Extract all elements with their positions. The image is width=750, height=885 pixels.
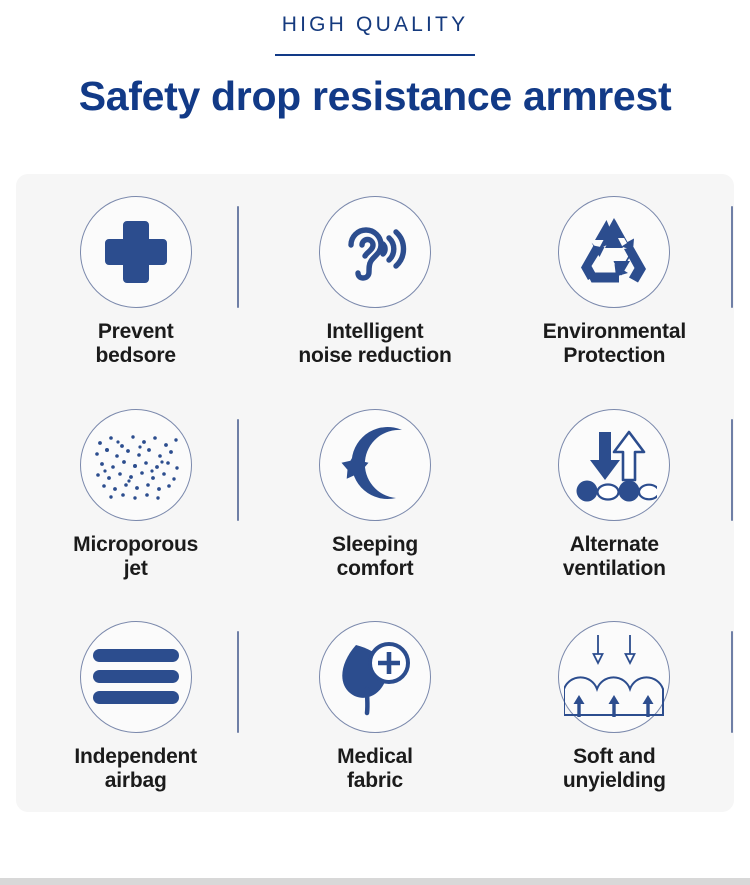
feature-panel: Prevent bedsore	[16, 174, 734, 812]
eyebrow-text: HIGH QUALITY	[0, 14, 750, 35]
feature-cell-microporous-jet[interactable]: Microporous jet	[16, 387, 255, 600]
feature-label: Environmental Protection	[543, 320, 686, 368]
column-divider	[237, 206, 239, 308]
title-underline	[275, 54, 475, 56]
leaf-plus-icon	[334, 637, 416, 717]
column-divider	[237, 419, 239, 521]
feature-cell-environmental-protection[interactable]: Environmental Protection	[495, 174, 734, 387]
three-bars-icon	[93, 647, 179, 707]
product-feature-page: HIGH QUALITY Safety drop resistance armr…	[0, 0, 750, 885]
arches-arrows-icon	[564, 629, 664, 725]
feature-label: Microporous jet	[73, 533, 198, 581]
icon-circle	[319, 409, 431, 521]
feature-label: Medical fabric	[337, 745, 413, 793]
recycle-icon	[574, 214, 654, 290]
moon-star-icon	[334, 424, 416, 506]
feature-label: Independent airbag	[74, 745, 197, 793]
ear-sound-wave-icon	[337, 214, 413, 290]
icon-circle	[319, 196, 431, 308]
icon-circle	[558, 409, 670, 521]
bottom-bar	[0, 878, 750, 885]
icon-circle	[558, 621, 670, 733]
icon-circle	[80, 409, 192, 521]
medical-cross-icon	[97, 213, 175, 291]
feature-cell-alternate-ventilation[interactable]: Alternate ventilation	[495, 387, 734, 600]
feature-label: Intelligent noise reduction	[298, 320, 451, 368]
feature-cell-soft-unyielding[interactable]: Soft and unyielding	[495, 599, 734, 812]
icon-circle	[558, 196, 670, 308]
feature-cell-prevent-bedsore[interactable]: Prevent bedsore	[16, 174, 255, 387]
page-title: Safety drop resistance armrest	[0, 75, 750, 118]
page-header: HIGH QUALITY Safety drop resistance armr…	[0, 0, 750, 118]
icon-circle	[80, 621, 192, 733]
icon-circle	[80, 196, 192, 308]
feature-label: Prevent bedsore	[96, 320, 176, 368]
micro-dots-icon	[92, 429, 180, 501]
column-divider	[237, 631, 239, 733]
feature-grid: Prevent bedsore	[16, 174, 734, 812]
up-down-arrows-icon	[571, 426, 657, 504]
feature-cell-independent-airbag[interactable]: Independent airbag	[16, 599, 255, 812]
icon-circle	[319, 621, 431, 733]
feature-label: Alternate ventilation	[563, 533, 666, 581]
feature-label: Soft and unyielding	[563, 745, 666, 793]
feature-cell-medical-fabric[interactable]: Medical fabric	[255, 599, 494, 812]
feature-cell-sleeping-comfort[interactable]: Sleeping comfort	[255, 387, 494, 600]
feature-label: Sleeping comfort	[332, 533, 418, 581]
feature-cell-intelligent-noise[interactable]: Intelligent noise reduction	[255, 174, 494, 387]
